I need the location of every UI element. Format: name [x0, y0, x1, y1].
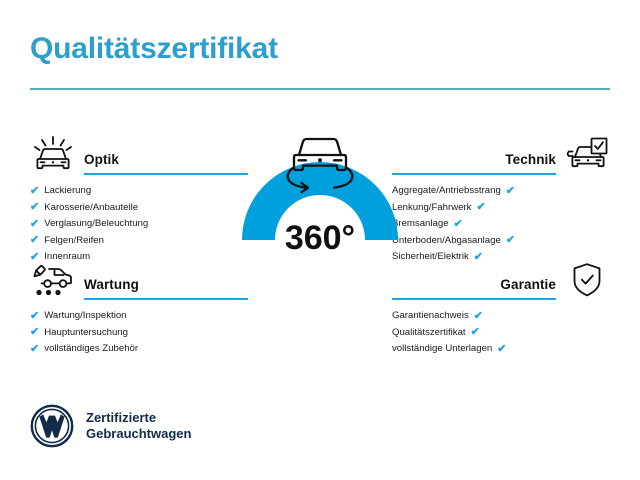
list-item-label: Felgen/Reifen [44, 233, 104, 250]
list-item: ✔Aggregate/Antriebsstrang [392, 183, 610, 200]
car-checkbox-icon [564, 135, 610, 175]
footer-brand: ZertifizierteGebrauchtwagen [30, 404, 191, 448]
list-item: ✔Verglasung/Beleuchtung [30, 216, 248, 233]
title-divider [30, 88, 610, 90]
section-technik: Technik ✔Aggregate/Antriebsstrang ✔Lenku… [392, 133, 610, 266]
section-optik-header: Optik [30, 133, 248, 175]
check-icon: ✔ [497, 344, 506, 355]
car-service-pen-icon [30, 260, 76, 300]
check-icon: ✔ [30, 327, 39, 338]
section-technik-header: Technik [392, 133, 610, 175]
section-optik-underline [84, 173, 248, 175]
footer-brand-line1: Zertifizierte [86, 410, 191, 426]
section-garantie-title-wrap: Garantie [392, 278, 556, 300]
list-item-label: Verglasung/Beleuchtung [44, 216, 148, 233]
list-item: ✔Lackierung [30, 183, 248, 200]
section-wartung-title-wrap: Wartung [84, 278, 248, 300]
section-garantie-header: Garantie [392, 258, 610, 300]
section-optik-title-wrap: Optik [84, 153, 248, 175]
list-item: ✔Lenkung/Fahrwerk [392, 200, 610, 217]
section-garantie-underline [392, 298, 556, 300]
list-item-label: Lackierung [44, 183, 91, 200]
check-icon: ✔ [30, 235, 39, 246]
section-garantie: Garantie ✔Garantienachweis ✔Qualitätszer… [392, 258, 610, 358]
check-icon: ✔ [476, 202, 485, 213]
list-item-label: vollständiges Zubehör [44, 341, 138, 358]
list-item: ✔vollständige Unterlagen [392, 341, 610, 358]
footer-brand-line2: Gebrauchtwagen [86, 426, 191, 442]
list-item: ✔Bremsanlage [392, 216, 610, 233]
section-wartung-list: ✔Wartung/Inspektion ✔Hauptuntersuchung ✔… [30, 300, 248, 358]
page-title: Qualitätszertifikat [30, 32, 278, 65]
check-icon: ✔ [30, 344, 39, 355]
list-item-label: vollständige Unterlagen [392, 341, 492, 358]
list-item-label: Qualitätszertifikat [392, 325, 466, 342]
section-technik-underline [392, 173, 556, 175]
check-icon: ✔ [471, 327, 480, 338]
check-icon: ✔ [30, 219, 39, 230]
list-item: ✔Qualitätszertifikat [392, 325, 610, 342]
section-wartung-title: Wartung [84, 278, 248, 298]
list-item: ✔vollständiges Zubehör [30, 341, 248, 358]
list-item: ✔Felgen/Reifen [30, 233, 248, 250]
section-technik-title: Technik [392, 153, 556, 173]
section-garantie-list: ✔Garantienachweis ✔Qualitätszertifikat ✔… [392, 300, 610, 358]
section-optik: Optik ✔Lackierung ✔Karosserie/Anbauteile… [30, 133, 248, 266]
list-item: ✔Hauptuntersuchung [30, 325, 248, 342]
section-wartung-header: Wartung [30, 258, 248, 300]
list-item: ✔Unterboden/Abgasanlage [392, 233, 610, 250]
check-icon: ✔ [30, 186, 39, 197]
badge-360-gebrauchtwagen-check: Gebrauchtwagen-Check 360° [231, 122, 409, 314]
list-item: ✔Wartung/Inspektion [30, 308, 248, 325]
section-technik-list: ✔Aggregate/Antriebsstrang ✔Lenkung/Fahrw… [392, 175, 610, 266]
certificate-page: Qualitätszertifikat Optik [0, 0, 640, 480]
list-item-label: Karosserie/Anbauteile [44, 200, 138, 217]
section-optik-title: Optik [84, 153, 248, 173]
badge-center-label: 360° [285, 219, 355, 257]
check-icon: ✔ [474, 311, 483, 322]
section-garantie-title: Garantie [392, 278, 556, 298]
list-item: ✔Karosserie/Anbauteile [30, 200, 248, 217]
check-icon: ✔ [506, 186, 515, 197]
section-wartung-underline [84, 298, 248, 300]
check-icon: ✔ [506, 235, 515, 246]
check-icon: ✔ [30, 202, 39, 213]
shield-check-icon [564, 260, 610, 300]
check-icon: ✔ [454, 219, 463, 230]
list-item-label: Hauptuntersuchung [44, 325, 128, 342]
list-item: ✔Garantienachweis [392, 308, 610, 325]
list-item-label: Wartung/Inspektion [44, 308, 126, 325]
section-optik-list: ✔Lackierung ✔Karosserie/Anbauteile ✔Verg… [30, 175, 248, 266]
check-icon: ✔ [30, 311, 39, 322]
vw-logo-icon [30, 404, 74, 448]
section-technik-title-wrap: Technik [392, 153, 556, 175]
car-shine-icon [30, 135, 76, 175]
footer-brand-text: ZertifizierteGebrauchtwagen [86, 410, 191, 442]
section-wartung: Wartung ✔Wartung/Inspektion ✔Hauptunters… [30, 258, 248, 358]
